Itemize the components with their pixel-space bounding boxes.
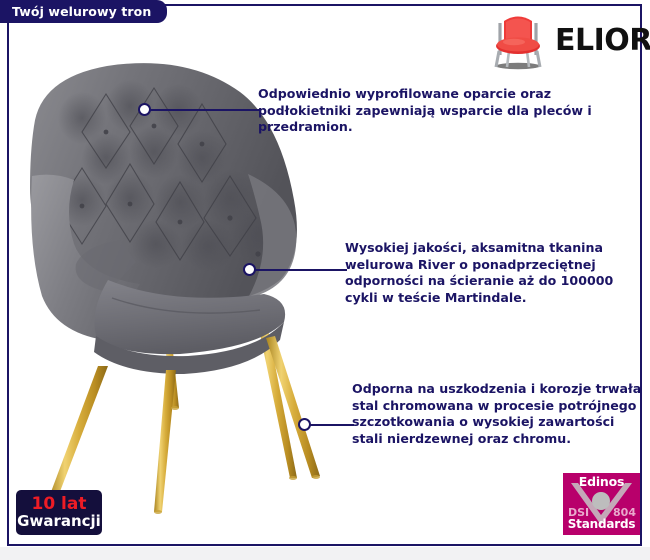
certification-title: Edinos	[563, 474, 640, 489]
callout-marker-1[interactable]	[138, 103, 151, 116]
infographic-page: Twój welurowy tron ELIOR	[0, 0, 650, 560]
callout-marker-2[interactable]	[243, 263, 256, 276]
header-banner: Twój welurowy tron	[0, 0, 167, 23]
callout-marker-3[interactable]	[298, 418, 311, 431]
callout-3: Odporna na uszkodzenia i korozje trwała …	[352, 381, 642, 448]
callout-leader-1	[150, 109, 260, 111]
frame-border-top	[160, 4, 642, 6]
warranty-badge: 10 lat Gwarancji	[16, 490, 102, 535]
frame-border-bottom	[7, 544, 642, 546]
red-chair-icon	[487, 11, 549, 71]
warranty-label: Gwarancji	[17, 514, 101, 529]
callout-1: Odpowiednio wyprofilowane oparcie oraz p…	[258, 86, 638, 136]
certification-subtitle: Standards	[563, 517, 640, 531]
callout-leader-3	[310, 424, 354, 426]
warranty-years: 10 lat	[31, 496, 86, 513]
callout-2-text: Wysokiej jakości, aksamitna tkanina welu…	[345, 240, 640, 307]
brand-name: ELIOR	[555, 26, 650, 56]
certification-badge: Edinos DSI 804 Standards	[563, 473, 640, 535]
callout-3-text: Odporna na uszkodzenia i korozje trwała …	[352, 381, 642, 448]
frame-border-right	[640, 4, 642, 546]
banner-title: Twój welurowy tron	[12, 4, 151, 19]
brand-logo: ELIOR	[487, 10, 637, 72]
callout-leader-2	[255, 269, 347, 271]
frame-border-left	[7, 22, 9, 546]
callout-2: Wysokiej jakości, aksamitna tkanina welu…	[345, 240, 640, 307]
callout-1-text: Odpowiednio wyprofilowane oparcie oraz p…	[258, 86, 638, 136]
